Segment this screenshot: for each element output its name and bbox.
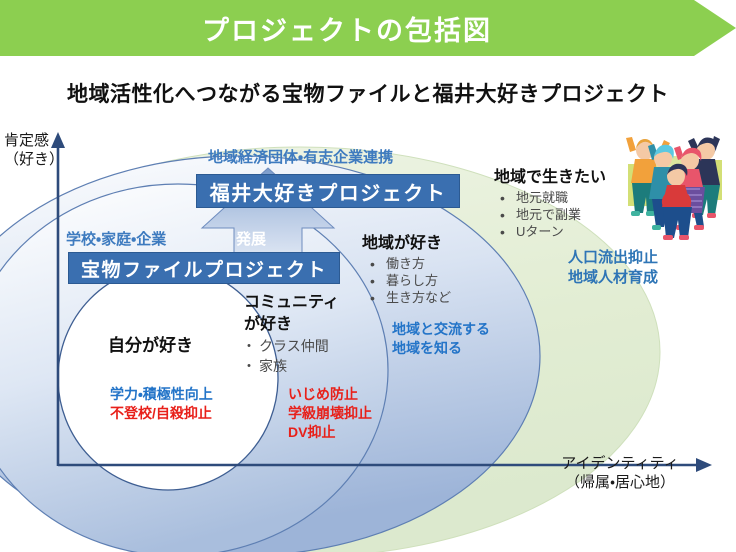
stage-label-community-line1: コミュニティ: [244, 292, 339, 314]
list-item: 家族: [244, 356, 329, 376]
list-item: 地元で副業: [498, 207, 581, 224]
outcome-self-red: 不登校/自殺抑止: [110, 404, 212, 422]
stage-label-live-in-region: 地域で生きたい: [494, 168, 606, 189]
stage-label-community: コミュニティ が好き: [244, 292, 339, 335]
x-axis-label: アイデンティティ （帰属・居心地）: [520, 455, 720, 493]
slide-root: プロジェクトの包括図 地域活性化へつながる宝物ファイルと福井大好きプロジェクト: [0, 0, 736, 552]
outcome-line: 地域と交流する: [392, 320, 490, 339]
y-axis-label-line2: （好き）: [4, 151, 64, 170]
stage-label-community-line2: が好き: [244, 314, 339, 336]
supporters-left-label: 学校・家庭・企業: [66, 230, 166, 250]
community-item-list: クラス仲間 家族: [244, 336, 329, 377]
diagram-canvas: 肯定感 （好き） アイデンティティ （帰属・居心地） 地域経済団体・有志企業連携…: [0, 120, 736, 552]
outcome-line: いじめ防止: [288, 385, 372, 404]
x-axis-label-line1: アイデンティティ: [520, 455, 720, 474]
celebrating-people-illustration: [614, 132, 736, 242]
outcome-line: DV抑止: [288, 423, 372, 442]
outcome-line: 人口流出抑止: [568, 248, 658, 268]
outcome-line: 地域人材育成: [568, 268, 658, 288]
outcome-self-blue: 学力・積極性向上: [110, 385, 213, 403]
list-item: 働き方: [368, 256, 451, 273]
live-item-list: 地元就職 地元で副業 Uターン: [498, 190, 581, 241]
project-box-fukui[interactable]: 福井大好きプロジェクト: [196, 174, 460, 208]
outcome-live-blue: 人口流出抑止 地域人材育成: [568, 248, 658, 289]
outcome-line: 学級崩壊抑止: [288, 404, 372, 423]
header-banner: プロジェクトの包括図: [0, 0, 736, 56]
stage-label-region: 地域が好き: [362, 234, 442, 255]
supporters-top-label: 地域経済団体・有志企業連携: [208, 148, 393, 168]
region-item-list: 働き方 暮らし方 生き方など: [368, 256, 451, 307]
list-item: Uターン: [498, 224, 581, 241]
y-axis-label-line1: 肯定感: [4, 132, 64, 151]
y-axis-label: 肯定感 （好き）: [4, 132, 64, 170]
outcome-line: 地域を知る: [392, 339, 490, 358]
list-item: 生き方など: [368, 290, 451, 307]
subtitle: 地域活性化へつながる宝物ファイルと福井大好きプロジェクト: [0, 78, 736, 108]
growth-arrow-label: 発展: [236, 230, 266, 250]
stage-label-self: 自分が好き: [108, 335, 193, 357]
page-title: プロジェクトの包括図: [0, 0, 694, 56]
project-box-takara[interactable]: 宝物ファイルプロジェクト: [68, 252, 340, 284]
outcome-region-blue: 地域と交流する 地域を知る: [392, 320, 490, 358]
list-item: 地元就職: [498, 190, 581, 207]
list-item: 暮らし方: [368, 273, 451, 290]
x-axis-label-line2: （帰属・居心地）: [520, 474, 720, 493]
list-item: クラス仲間: [244, 336, 329, 356]
outcome-community-red: いじめ防止 学級崩壊抑止 DV抑止: [288, 385, 372, 442]
